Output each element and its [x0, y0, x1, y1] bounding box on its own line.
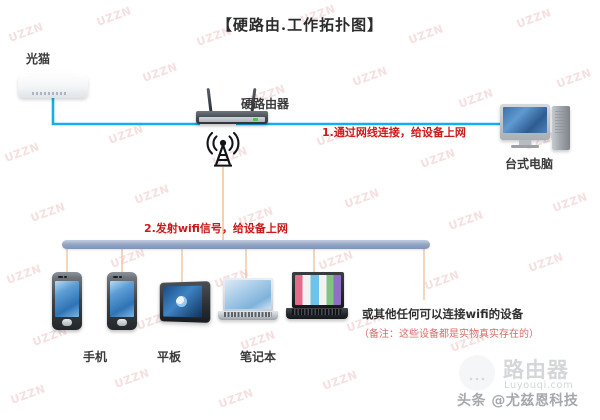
- smartphone-icon[interactable]: [107, 272, 137, 330]
- broadcast-tower-icon: [203, 131, 243, 167]
- laptop-keyboard: [224, 312, 272, 317]
- device-shelf-bar: [62, 240, 430, 249]
- account-handle: 头条 @尤兹恩科技: [457, 390, 578, 410]
- router-logo-icon: [457, 354, 501, 392]
- pc-tower-case: [552, 106, 570, 150]
- tablet-icon[interactable]: [158, 282, 210, 322]
- smartphone-icon[interactable]: [52, 272, 82, 330]
- phone-home-button: [62, 319, 72, 326]
- label-modem: 光猫: [26, 50, 50, 67]
- laptop-lid: [292, 272, 344, 308]
- phone-screen: [55, 281, 79, 317]
- phone-screen: [110, 281, 134, 317]
- label-other-devices-note: （备注：这些设备都是实物真实存在的）: [359, 325, 539, 340]
- phone-camera: [119, 276, 122, 278]
- laptop-screen: [295, 275, 341, 305]
- optical-modem-icon[interactable]: [16, 68, 90, 100]
- phone-home-button: [117, 319, 127, 326]
- annotation-wired-connection: 1.通过网线连接，给设备上网: [322, 124, 466, 140]
- label-desktop: 台式电脑: [505, 155, 553, 172]
- monitor-screen: [503, 107, 547, 133]
- laptop-screen: [225, 280, 271, 309]
- label-tablet: 平板: [157, 348, 181, 365]
- monitor-bezel: [500, 104, 550, 140]
- label-router: 硬路由器: [241, 95, 289, 112]
- modem-led-strip: [32, 92, 66, 95]
- laptop-icon[interactable]: [286, 272, 348, 324]
- label-phone: 手机: [83, 348, 107, 365]
- tablet-os-logo-icon: [176, 296, 187, 307]
- topology-diagram-canvas: UZZN UZZN UZZN UZZN UZZN UZZN UZZN UZZN …: [0, 0, 600, 420]
- diagram-title: 【硬路由.工作拓扑图】: [0, 14, 600, 35]
- laptop-lid: [223, 278, 273, 311]
- phone-speaker: [58, 276, 63, 278]
- wire-modem-to-router: [53, 97, 200, 124]
- label-other-devices: 或其他任何可以连接wifi的设备: [362, 306, 523, 322]
- monitor-base: [511, 145, 539, 148]
- laptop-icon[interactable]: [218, 278, 278, 324]
- router-status-led: [253, 118, 258, 121]
- router-antenna-left: [207, 88, 213, 112]
- laptop-keyboard: [292, 309, 342, 315]
- brand-watermark: 路由器 Luyouqi.com 头条 @尤兹恩科技: [455, 350, 600, 420]
- phone-speaker: [113, 276, 118, 278]
- annotation-wireless-connection: 2.发射wifi信号，给设备上网: [144, 220, 288, 236]
- label-laptop: 笔记本: [240, 348, 276, 365]
- desktop-computer-icon[interactable]: [500, 104, 572, 152]
- modem-top-panel: [28, 70, 76, 84]
- phone-camera: [64, 276, 67, 278]
